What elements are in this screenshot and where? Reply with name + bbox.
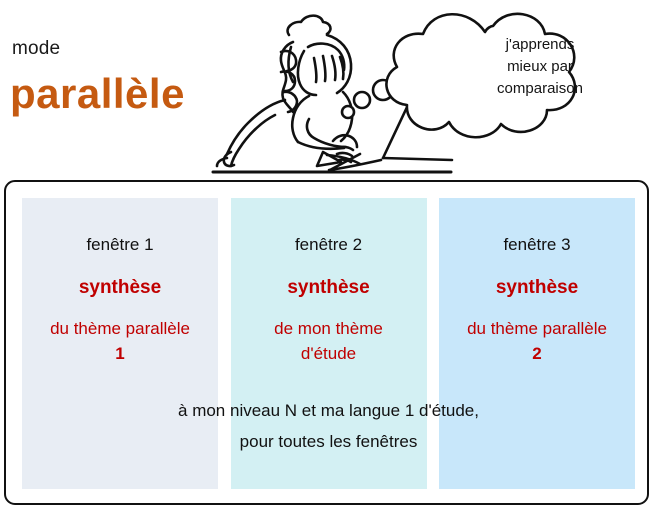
panel-desc-line1-2: de mon thème — [274, 319, 383, 338]
panel-synthese-3: synthèse — [439, 277, 635, 299]
panel-description-2: de mon thème d'étude — [231, 317, 427, 366]
panel-desc-line1-1: du thème parallèle — [50, 319, 190, 338]
panel-description-1: du thème parallèle 1 — [22, 317, 218, 366]
window-panel-fenetre-3[interactable]: fenêtre 3 synthèse du thème parallèle 2 — [439, 198, 635, 489]
panel-header-3: fenêtre 3 — [439, 235, 635, 255]
window-panel-fenetre-2[interactable]: fenêtre 2 synthèse de mon thème d'étude — [231, 198, 427, 489]
window-panels: fenêtre 1 synthèse du thème parallèle 1 … — [22, 198, 635, 489]
header-area: mode parallèle — [0, 0, 657, 180]
panel-header-2: fenêtre 2 — [231, 235, 427, 255]
panel-synthese-2: synthèse — [231, 277, 427, 299]
window-panel-fenetre-1[interactable]: fenêtre 1 synthèse du thème parallèle 1 — [22, 198, 218, 489]
thought-dot-2 — [354, 92, 370, 108]
panel-desc-line2-3: 2 — [532, 344, 541, 363]
thought-bubble-line-3: comparaison — [460, 78, 620, 100]
thought-bubble-text: j'apprends mieux par comparaison — [460, 34, 620, 99]
thought-dot-1 — [342, 106, 354, 118]
mode-label: mode — [12, 38, 60, 60]
panel-synthese-1: synthèse — [22, 277, 218, 299]
thought-bubble-line-2: mieux par — [460, 56, 620, 78]
thought-bubble-line-1: j'apprends — [460, 34, 620, 56]
panel-desc-line2-2: d'étude — [301, 344, 356, 363]
windows-container: fenêtre 1 synthèse du thème parallèle 1 … — [4, 180, 649, 505]
panel-desc-line2-1: 1 — [115, 344, 124, 363]
mode-title: parallèle — [10, 70, 185, 118]
panel-description-3: du thème parallèle 2 — [439, 317, 635, 366]
panel-desc-line1-3: du thème parallèle — [467, 319, 607, 338]
thought-bubble: j'apprends mieux par comparaison — [340, 2, 657, 147]
panel-header-1: fenêtre 1 — [22, 235, 218, 255]
